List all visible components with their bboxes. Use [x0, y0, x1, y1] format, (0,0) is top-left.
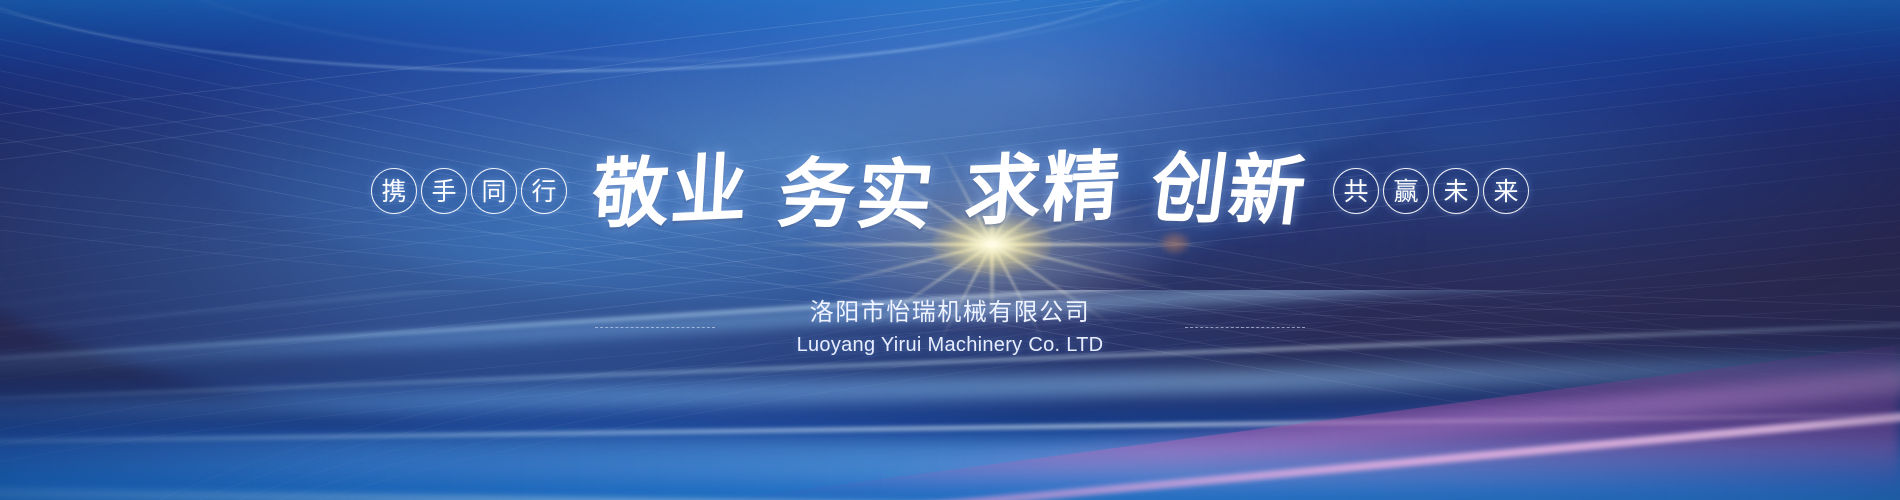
banner-content: 携 手 同 行 敬业 务实 求精 创新 共 赢 未 来 洛阳市怡瑞机械有限公司 — [0, 0, 1900, 500]
circled-char-right-4: 来 — [1483, 168, 1529, 214]
slogan-group-3: 求精 — [962, 148, 1124, 230]
company-names: 洛阳市怡瑞机械有限公司 Luoyang Yirui Machinery Co. … — [797, 296, 1104, 359]
circled-char-left-1: 携 — [371, 168, 417, 214]
headline-row: 携 手 同 行 敬业 务实 求精 创新 共 赢 未 来 — [0, 148, 1900, 234]
circled-char-left-2: 手 — [421, 168, 467, 214]
circled-char-right-1: 共 — [1333, 168, 1379, 214]
slogan-group-2: 务实 — [774, 156, 939, 234]
divider-dashed-right — [1185, 327, 1305, 328]
circled-char-right-3: 未 — [1433, 168, 1479, 214]
slogan-calligraphy: 敬业 务实 求精 创新 — [563, 149, 1337, 233]
company-name-cn: 洛阳市怡瑞机械有限公司 — [797, 296, 1104, 328]
company-block: 洛阳市怡瑞机械有限公司 Luoyang Yirui Machinery Co. … — [0, 296, 1900, 359]
hero-banner: 携 手 同 行 敬业 务实 求精 创新 共 赢 未 来 洛阳市怡瑞机械有限公司 — [0, 0, 1900, 500]
circled-char-left-3: 同 — [471, 168, 517, 214]
divider-dashed-left — [595, 327, 715, 328]
slogan-group-4: 创新 — [1146, 150, 1311, 230]
circled-chars-right: 共 赢 未 来 — [1333, 168, 1529, 214]
company-name-en: Luoyang Yirui Machinery Co. LTD — [797, 331, 1104, 359]
circled-char-left-4: 行 — [521, 168, 567, 214]
circled-chars-left: 携 手 同 行 — [371, 168, 567, 214]
slogan-group-1: 敬业 — [590, 150, 751, 233]
circled-char-right-2: 赢 — [1383, 168, 1429, 214]
